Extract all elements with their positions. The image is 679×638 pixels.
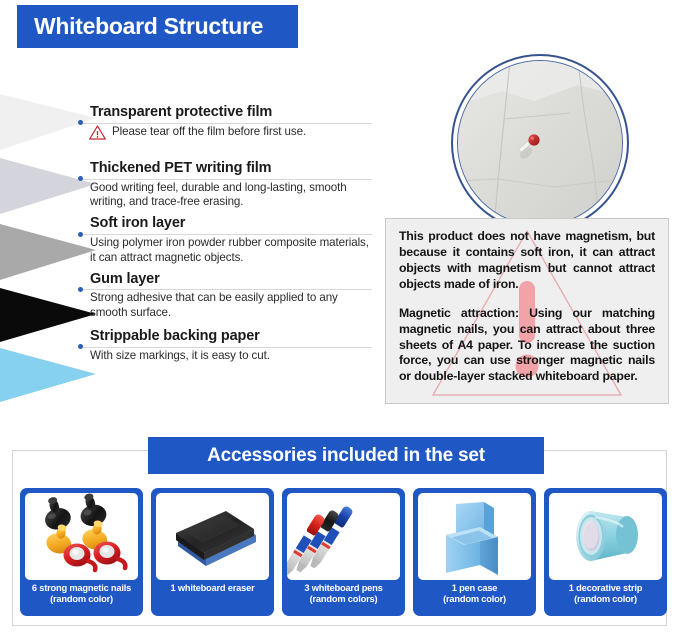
info-paragraph-1: This product does not have magnetism, bu… — [399, 229, 655, 293]
layer-description-wrap: Please tear off the film before first us… — [72, 125, 372, 140]
layer-divider — [82, 234, 372, 235]
magnetism-info-box: This product does not have magnetism, bu… — [385, 218, 669, 404]
accessory-label-line1: 6 strong magnetic nails — [32, 583, 131, 594]
layer-description: Strong adhesive that can be easily appli… — [72, 291, 372, 320]
layer-title: Transparent protective film — [72, 104, 372, 122]
accessory-label-line1: 1 decorative strip — [569, 583, 642, 594]
accessories-banner: Accessories included in the set — [148, 437, 544, 474]
layer-title: Thickened PET writing film — [72, 160, 372, 178]
accessory-label-line1: 1 pen case — [443, 583, 506, 594]
whiteboard-eraser-icon — [156, 493, 269, 580]
accessory-label-line2: (random colors) — [304, 594, 382, 605]
layer-title: Gum layer — [72, 271, 372, 289]
layer-row-pet-film: Thickened PET writing film Good writing … — [72, 160, 372, 210]
layer-bullet-dot — [78, 287, 83, 292]
accessory-label: 1 whiteboard eraser — [170, 583, 254, 594]
accessory-label-line2: (random color) — [443, 594, 506, 605]
accessory-card-pen-case[interactable]: 1 pen case (random color) — [413, 488, 536, 616]
layer-row-soft-iron: Soft iron layer Using polymer iron powde… — [72, 215, 372, 265]
decorative-strip-icon — [549, 493, 662, 580]
accessories-card-list: 6 strong magnetic nails (random color) — [20, 488, 660, 616]
layer-bullet-dot — [78, 232, 83, 237]
layer-description: Good writing feel, durable and long-last… — [72, 181, 372, 210]
layer-divider — [82, 123, 372, 124]
accessory-label: 6 strong magnetic nails (random color) — [32, 583, 131, 606]
magnetic-nails-icon — [25, 493, 138, 580]
accessory-label-line2: (random color) — [569, 594, 642, 605]
accessory-label: 3 whiteboard pens (random colors) — [304, 583, 382, 606]
layer-description: Using polymer iron powder rubber composi… — [72, 236, 372, 265]
accessory-label: 1 pen case (random color) — [443, 583, 506, 606]
layer-divider — [82, 289, 372, 290]
layer-title: Soft iron layer — [72, 215, 372, 233]
accessory-card-whiteboard-pens[interactable]: 3 whiteboard pens (random colors) — [282, 488, 405, 616]
warning-triangle-icon — [89, 125, 106, 145]
accessory-card-decorative-strip[interactable]: 1 decorative strip (random color) — [544, 488, 667, 616]
accessory-label-line1: 3 whiteboard pens — [304, 583, 382, 594]
layer-row-transparent-film: Transparent protective film Please tear … — [72, 104, 372, 140]
accessory-card-magnetic-nails[interactable]: 6 strong magnetic nails (random color) — [20, 488, 143, 616]
layer-description: Please tear off the film before first us… — [112, 125, 306, 138]
info-paragraph-2: Magnetic attraction: Using our matching … — [399, 306, 655, 386]
accessory-label-line1: 1 whiteboard eraser — [170, 583, 254, 594]
accessory-card-whiteboard-eraser[interactable]: 1 whiteboard eraser — [151, 488, 274, 616]
page-title-banner: Whiteboard Structure — [17, 5, 298, 48]
page-title: Whiteboard Structure — [34, 13, 263, 40]
whiteboard-pens-icon — [287, 493, 400, 580]
layer-divider — [82, 179, 372, 180]
accessory-label-line2: (random color) — [32, 594, 131, 605]
pen-case-icon — [418, 493, 531, 580]
layer-row-gum-layer: Gum layer Strong adhesive that can be ea… — [72, 271, 372, 321]
layer-description-list: Transparent protective film Please tear … — [72, 104, 372, 365]
whiteboard-with-magnetic-pin-photo — [457, 60, 623, 226]
layer-divider — [82, 347, 372, 348]
accessory-label: 1 decorative strip (random color) — [569, 583, 642, 606]
layer-title: Strippable backing paper — [72, 328, 372, 346]
accessories-banner-title: Accessories included in the set — [207, 445, 485, 467]
product-photo-circle — [451, 54, 629, 232]
layer-description: With size markings, it is easy to cut. — [72, 349, 372, 364]
layer-row-backing-paper: Strippable backing paper With size marki… — [72, 328, 372, 364]
